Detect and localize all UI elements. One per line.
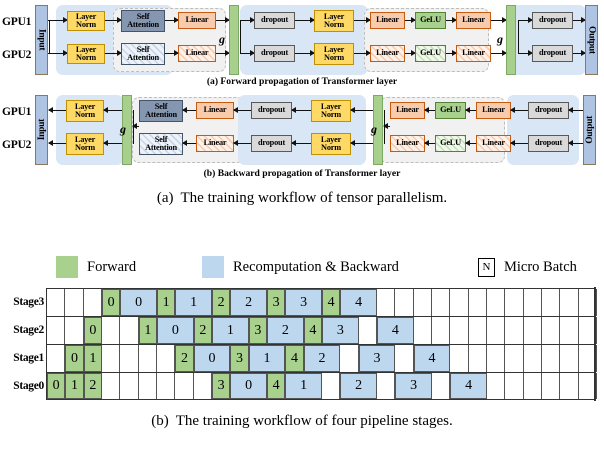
- arrow-dpout2-to-mlplin2-backward: [511, 143, 528, 144]
- pipeline-cell: [542, 345, 560, 372]
- pipeline-cell: [84, 289, 102, 316]
- pipeline-cell: [469, 289, 487, 316]
- pipeline-cell: [505, 345, 523, 372]
- legend-swatch-backward: [202, 256, 224, 278]
- backward-selfattention-gpu2: Self Attention: [139, 133, 183, 155]
- forward-block[interactable]: 0: [65, 345, 83, 372]
- backward-block[interactable]: 0: [120, 289, 157, 316]
- forward-block[interactable]: 4: [322, 289, 340, 316]
- forward-block[interactable]: 1: [139, 317, 157, 344]
- pipeline-cell: [377, 373, 395, 399]
- g2-split-line: [518, 20, 519, 54]
- arrow-lin1-to-g1: [216, 20, 229, 21]
- grid-right-edge: [594, 315, 596, 345]
- figure-a-caption: (a)The training workflow of tensor paral…: [0, 190, 604, 207]
- pipeline-cell: [487, 289, 505, 316]
- forward-block[interactable]: 3: [267, 289, 285, 316]
- backward-dropout-gpu2: dropout: [251, 135, 292, 152]
- gpu1-label-backward: GPU1: [2, 106, 31, 118]
- backward-block[interactable]: 3: [359, 345, 396, 372]
- arrow-input-to-ln1: [48, 20, 67, 21]
- pipeline-cell: [102, 317, 120, 344]
- forward-gelu-gpu1: GeLU: [415, 12, 446, 29]
- pipeline-cell: [450, 317, 468, 344]
- stage-label: Stage3: [0, 296, 44, 308]
- pipeline-cell: [322, 373, 340, 399]
- pipeline-cell: [505, 317, 523, 344]
- forward-block[interactable]: 0: [102, 289, 120, 316]
- backward-block[interactable]: 2: [304, 345, 341, 372]
- arrow-dpout1-to-mlplin2-backward: [511, 110, 528, 111]
- backward-block[interactable]: 0: [230, 373, 267, 399]
- legend-swatch-microbatch: N: [478, 258, 495, 277]
- arrow-lin2-to-g1: [216, 53, 229, 54]
- arrow-g1-to-dp1: [240, 20, 254, 21]
- arrow-ln1-to-sa1: [105, 20, 121, 21]
- pipeline-cell: [377, 289, 395, 316]
- arrow-g1-to-ln2-backward: [104, 143, 122, 144]
- arrow-gelu2-to-lin2: [446, 53, 456, 54]
- forward-mlp-linear2-gpu2: Linear: [456, 45, 491, 62]
- forward-block[interactable]: 0: [47, 373, 65, 399]
- forward-mlp-linear2-gpu1: Linear: [456, 12, 491, 29]
- pipeline-stage-row: 0011223344: [46, 288, 596, 316]
- arrow-ln1b-to-dp1-backward: [292, 110, 311, 111]
- forward-block[interactable]: 2: [194, 317, 212, 344]
- forward-block[interactable]: 2: [84, 373, 102, 399]
- pipeline-cell: [487, 345, 505, 372]
- forward-dropout-gpu2: dropout: [254, 45, 295, 62]
- arrow-gelu1-to-lin2: [446, 20, 456, 21]
- forward-propagation-diagram: GPU1 GPU2 Input Layer Norm Layer Norm Se…: [0, 2, 604, 80]
- legend-item-forward: Forward: [56, 255, 136, 279]
- arrow-g2-to-dpout1: [518, 20, 532, 21]
- forward-block[interactable]: 1: [65, 373, 83, 399]
- pipeline-cell: [524, 289, 542, 316]
- arrow-mlplin2-to-g2-1: [491, 20, 506, 21]
- backward-selfattention-gpu1: Self Attention: [139, 100, 183, 122]
- pipeline-cell: [542, 373, 560, 399]
- backward-gelu-gpu2: GeLU: [435, 135, 466, 152]
- pipeline-cell: [157, 345, 175, 372]
- backward-dropout-out-gpu1: dropout: [528, 102, 569, 119]
- pipeline-cell: [414, 317, 432, 344]
- pipeline-cell: [560, 289, 578, 316]
- arrow-ln2b-to-lin: [354, 53, 370, 54]
- forward-block[interactable]: 3: [249, 317, 267, 344]
- stage-label: Stage0: [0, 380, 44, 392]
- pipeline-cell: [560, 373, 578, 399]
- gpu2-label: GPU2: [2, 49, 31, 61]
- backward-block[interactable]: 2: [267, 317, 304, 344]
- forward-block[interactable]: 4: [285, 345, 303, 372]
- forward-input-label: Input: [37, 29, 47, 50]
- stage-label: Stage1: [0, 352, 44, 364]
- arrow-g1-to-ln1-backward: [104, 110, 122, 111]
- forward-input-bar: Input: [35, 5, 48, 75]
- arrow-ln1b-to-lin: [354, 20, 370, 21]
- arrow-into-g2-backward: [384, 126, 390, 127]
- input-split-line: [49, 20, 50, 54]
- arrow-mlplin1-to-gelu2: [405, 53, 415, 54]
- backward-block[interactable]: 0: [194, 345, 231, 372]
- pipeline-cell: [560, 317, 578, 344]
- arrow-into-g1-backward: [133, 126, 139, 127]
- g1-split-line: [240, 20, 241, 54]
- pipeline-cell: [47, 289, 65, 316]
- pipeline-cell: [139, 345, 157, 372]
- arrow-ln2-to-input-backward: [49, 143, 66, 144]
- pipeline-legend: Forward Recomputation & Backward N Micro…: [0, 255, 604, 279]
- pipeline-cell: [469, 317, 487, 344]
- backward-layernorm2-gpu2: Layer Norm: [311, 133, 351, 155]
- backward-block[interactable]: 4: [414, 345, 451, 372]
- pipeline-cell: [505, 289, 523, 316]
- backward-block[interactable]: 3: [395, 373, 432, 399]
- pipeline-cell: [487, 317, 505, 344]
- pipeline-cell: [542, 317, 560, 344]
- pipeline-cell: [395, 289, 413, 316]
- pipeline-cell: [524, 373, 542, 399]
- pipeline-cell: [432, 289, 450, 316]
- pipeline-cell: [359, 317, 377, 344]
- arrow-dp2-to-lin2-backward: [234, 143, 251, 144]
- pipeline-cell: [524, 345, 542, 372]
- backward-layernorm2-gpu1: Layer Norm: [311, 100, 351, 122]
- backward-mlp-linear2-gpu1: Linear: [476, 102, 511, 119]
- backward-g-label-2: g: [371, 122, 377, 137]
- arrow-input-to-ln2: [48, 53, 67, 54]
- arrow-g2-to-ln2b-backward: [351, 143, 373, 144]
- backward-block[interactable]: 2: [230, 289, 267, 316]
- arrow-sa2-to-lin2: [165, 53, 178, 54]
- arrow-mlplin2-to-gelu2-backward: [466, 143, 476, 144]
- forward-g-operator-1: [229, 5, 239, 75]
- pipeline-cell: [432, 317, 450, 344]
- forward-caption: (a) Forward propagation of Transformer l…: [0, 76, 604, 87]
- figure-a-caption-text: The training workflow of tensor parallel…: [181, 190, 448, 206]
- forward-block[interactable]: 0: [84, 317, 102, 344]
- backward-dropout-out-gpu2: dropout: [528, 135, 569, 152]
- forward-selfattention-gpu1: Self Attention: [121, 10, 165, 32]
- pipeline-cell: [560, 345, 578, 372]
- legend-item-microbatch: N Micro Batch: [478, 255, 577, 279]
- pipeline-cell: [194, 373, 212, 399]
- pipeline-cell: [340, 345, 358, 372]
- pipeline-cell: [469, 345, 487, 372]
- forward-block[interactable]: 3: [230, 345, 248, 372]
- pipeline-cell: [414, 289, 432, 316]
- arrow-dp1-to-ln1b: [295, 20, 314, 21]
- figure-b-caption-tag: (b): [151, 413, 169, 429]
- pipeline-stages-figure: Forward Recomputation & Backward N Micro…: [0, 245, 604, 452]
- pipeline-cell: [65, 317, 83, 344]
- arrow-ln2b-to-dp2-backward: [292, 143, 311, 144]
- stage-label: Stage2: [0, 324, 44, 336]
- legend-swatch-forward: [56, 256, 78, 278]
- pipeline-cell: [139, 373, 157, 399]
- pipeline-cell: [120, 317, 138, 344]
- backward-output-bar: Output: [583, 95, 596, 165]
- grid-right-edge: [594, 371, 596, 400]
- pipeline-stage-row: 0120314234: [46, 344, 596, 372]
- forward-g-label-2: g: [497, 32, 503, 47]
- backward-g-label-1: g: [120, 122, 126, 137]
- pipeline-cell: [47, 345, 65, 372]
- backward-linear-gpu1: Linear: [196, 102, 234, 119]
- arrow-dpout2-to-output: [573, 53, 585, 54]
- backward-block[interactable]: 2: [340, 373, 377, 399]
- forward-block[interactable]: 4: [267, 373, 285, 399]
- arrow-gelu2-to-mlplin1-backward: [425, 143, 435, 144]
- arrow-mlplin1-to-gelu1: [405, 20, 415, 21]
- arrow-ln2-to-sa2: [105, 53, 121, 54]
- forward-gelu-gpu2: GeLU: [415, 45, 446, 62]
- arrow-gelu1-to-mlplin1-backward: [425, 110, 435, 111]
- arrow-dp2-to-ln2b: [295, 53, 314, 54]
- forward-dropout-out-gpu2: dropout: [532, 45, 573, 62]
- forward-block[interactable]: 2: [175, 345, 193, 372]
- arrow-lin2-to-sa2-backward: [183, 143, 196, 144]
- pipeline-stage-row: 0102132434: [46, 316, 596, 344]
- pipeline-cell: [450, 289, 468, 316]
- forward-mlp-linear1-gpu1: Linear: [370, 12, 405, 29]
- backward-input-label: Input: [37, 119, 47, 140]
- forward-block[interactable]: 4: [304, 317, 322, 344]
- gpu1-label: GPU1: [2, 16, 31, 28]
- forward-g-label-1: g: [219, 32, 225, 47]
- forward-dropout-out-gpu1: dropout: [532, 12, 573, 29]
- forward-output-label: Output: [587, 26, 597, 54]
- backward-block[interactable]: 3: [322, 317, 359, 344]
- backward-propagation-diagram: GPU1 GPU2 Input Layer Norm Layer Norm g …: [0, 92, 604, 172]
- legend-label-forward: Forward: [87, 259, 136, 276]
- backward-block[interactable]: 1: [175, 289, 212, 316]
- forward-layernorm2-gpu2: Layer Norm: [314, 43, 354, 65]
- arrow-output-to-dpout1-backward: [569, 110, 583, 111]
- backward-block[interactable]: 1: [285, 373, 322, 399]
- pipeline-cell: [157, 373, 175, 399]
- pipeline-cell: [395, 345, 413, 372]
- grid-right-edge: [594, 343, 596, 373]
- pipeline-stage-row: 0123041234: [46, 372, 596, 400]
- arrow-dp1-to-lin1-backward: [234, 110, 251, 111]
- pipeline-cell: [120, 345, 138, 372]
- gpu2-label-backward: GPU2: [2, 139, 31, 151]
- legend-label-microbatch: Micro Batch: [504, 259, 577, 276]
- backward-block[interactable]: 1: [212, 317, 249, 344]
- forward-block[interactable]: 1: [157, 289, 175, 316]
- tensor-parallelism-figure: GPU1 GPU2 Input Layer Norm Layer Norm Se…: [0, 0, 604, 225]
- figure-b-caption: (b)The training workflow of four pipelin…: [0, 413, 604, 430]
- arrow-g2-to-ln1b-backward: [351, 110, 373, 111]
- forward-selfattention-gpu2: Self Attention: [121, 43, 165, 65]
- backward-layernorm-gpu2: Layer Norm: [66, 133, 104, 155]
- backward-mlp-linear1-gpu2: Linear: [390, 135, 425, 152]
- forward-block[interactable]: 1: [84, 345, 102, 372]
- forward-layernorm-gpu1: Layer Norm: [67, 11, 105, 31]
- backward-layernorm-gpu1: Layer Norm: [66, 100, 104, 122]
- forward-mlp-linear1-gpu2: Linear: [370, 45, 405, 62]
- arrow-mlplin2-to-g2-2: [491, 53, 506, 54]
- grid-right-edge: [594, 287, 596, 317]
- backward-block[interactable]: 4: [340, 289, 377, 316]
- forward-block[interactable]: 3: [212, 373, 230, 399]
- backward-block[interactable]: 0: [157, 317, 194, 344]
- pipeline-cell: [102, 345, 120, 372]
- forward-linear-gpu1: Linear: [178, 12, 216, 29]
- arrow-ln1-to-input-backward: [49, 110, 66, 111]
- pipeline-schedule-chart: 0011223344010213243401203142340123041234: [46, 288, 596, 400]
- pipeline-cell: [542, 289, 560, 316]
- backward-gelu-gpu1: GeLU: [435, 102, 466, 119]
- arrow-g2-to-dpout2: [518, 53, 532, 54]
- backward-block[interactable]: 4: [377, 317, 414, 344]
- backward-dropout-gpu1: dropout: [251, 102, 292, 119]
- arrow-sa1-to-lin1: [165, 20, 178, 21]
- legend-label-backward: Recomputation & Backward: [233, 259, 399, 276]
- pipeline-cell: [102, 373, 120, 399]
- arrow-dpout1-to-output: [573, 20, 585, 21]
- backward-output-label: Output: [585, 116, 595, 144]
- arrow-g1-to-dp2: [240, 53, 254, 54]
- backward-block[interactable]: 3: [285, 289, 322, 316]
- forward-layernorm2-gpu1: Layer Norm: [314, 10, 354, 32]
- pipeline-cell: [120, 373, 138, 399]
- forward-layernorm-gpu2: Layer Norm: [67, 44, 105, 64]
- pipeline-cell: [432, 373, 450, 399]
- backward-mlp-linear2-gpu2: Linear: [476, 135, 511, 152]
- forward-g-operator-2: [506, 5, 516, 75]
- backward-block[interactable]: 4: [450, 373, 487, 399]
- pipeline-cell: [175, 373, 193, 399]
- pipeline-cell: [505, 373, 523, 399]
- arrow-output-to-dpout2-backward: [569, 143, 583, 144]
- backward-caption: (b) Backward propagation of Transformer …: [0, 168, 604, 179]
- figure-a-caption-tag: (a): [157, 190, 174, 206]
- backward-mlp-linear1-gpu1: Linear: [390, 102, 425, 119]
- figure-b-caption-text: The training workflow of four pipeline s…: [176, 413, 453, 429]
- backward-block[interactable]: 1: [249, 345, 286, 372]
- legend-item-backward: Recomputation & Backward: [202, 255, 399, 279]
- forward-dropout-gpu1: dropout: [254, 12, 295, 29]
- backward-linear-gpu2: Linear: [196, 135, 234, 152]
- pipeline-cell: [65, 289, 83, 316]
- forward-block[interactable]: 2: [212, 289, 230, 316]
- arrow-lin1-to-sa1-backward: [183, 110, 196, 111]
- forward-linear-gpu2: Linear: [178, 45, 216, 62]
- pipeline-cell: [450, 345, 468, 372]
- pipeline-cell: [524, 317, 542, 344]
- forward-output-bar: Output: [585, 5, 598, 75]
- pipeline-cell: [487, 373, 505, 399]
- pipeline-cell: [47, 317, 65, 344]
- arrow-mlplin2-to-gelu1-backward: [466, 110, 476, 111]
- backward-input-bar: Input: [35, 95, 48, 165]
